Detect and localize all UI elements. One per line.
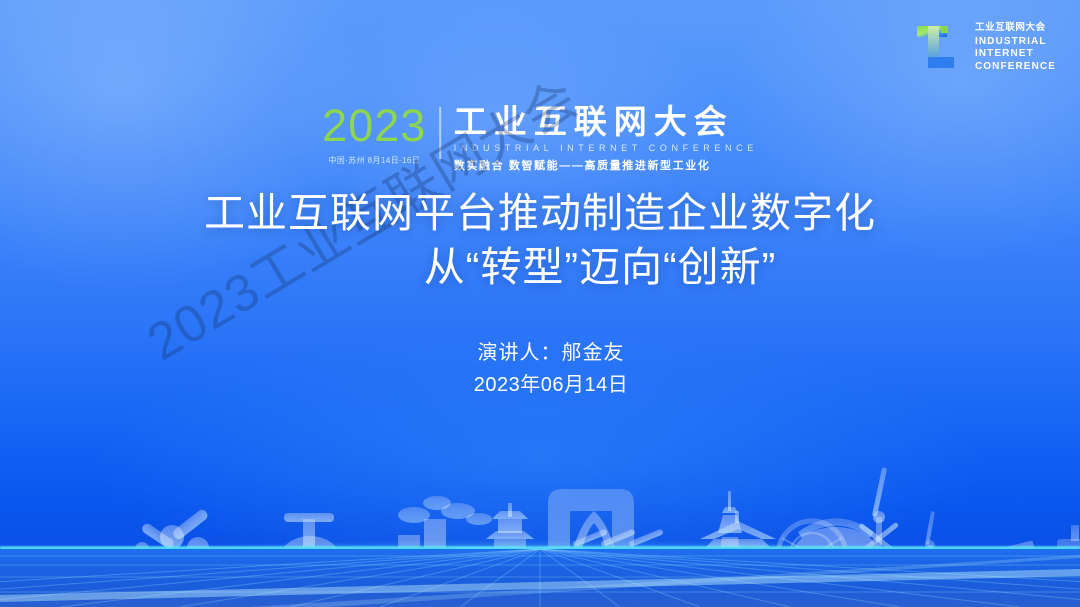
lockup-slogan: 数实融合 数智赋能——高质量推进新型工业化 [454, 157, 758, 173]
header-brand-cn: 工业互联网大会 [975, 23, 1056, 33]
lockup-name-en: INDUSTRIAL INTERNET CONFERENCE [454, 143, 758, 153]
conference-lockup: 2023 中国·苏州 8月14日-16日 工业互联网大会 INDUSTRIAL … [322, 104, 758, 173]
header-brand-en-3: CONFERENCE [975, 62, 1056, 72]
header-brand-en-1: INDUSTRIAL [975, 37, 1056, 47]
title-line-2: 从“转型”迈向“创新” [0, 240, 1080, 294]
page-title: 工业互联网平台推动制造企业数字化 从“转型”迈向“创新” [0, 186, 1080, 294]
ground-grid [0, 549, 1080, 607]
lockup-place-date: 中国·苏州 8月14日-16日 [328, 155, 420, 166]
lockup-year-block: 2023 中国·苏州 8月14日-16日 [322, 104, 426, 166]
header-brand-text: 工业互联网大会 INDUSTRIAL INTERNET CONFERENCE [975, 20, 1056, 74]
header-brand-en-2: INTERNET [975, 49, 1056, 59]
title-line-1: 工业互联网平台推动制造企业数字化 [0, 186, 1080, 240]
lockup-name-block: 工业互联网大会 INDUSTRIAL INTERNET CONFERENCE 数… [454, 104, 758, 173]
speaker-date: 2023年06月14日 [22, 369, 1080, 401]
title-slide: 工业互联网大会 INDUSTRIAL INTERNET CONFERENCE 2… [0, 0, 1080, 607]
header-brand: 工业互联网大会 INDUSTRIAL INTERNET CONFERENCE [914, 20, 1056, 74]
lockup-divider [439, 107, 441, 159]
speaker-block: 演讲人：郍金友 2023年06月14日 [0, 337, 1080, 401]
industrial-internet-conference-logo-icon [914, 20, 966, 74]
speaker-name: 演讲人：郍金友 [22, 337, 1080, 369]
lockup-year: 2023 [322, 104, 426, 148]
lockup-name-cn: 工业互联网大会 [454, 104, 758, 140]
